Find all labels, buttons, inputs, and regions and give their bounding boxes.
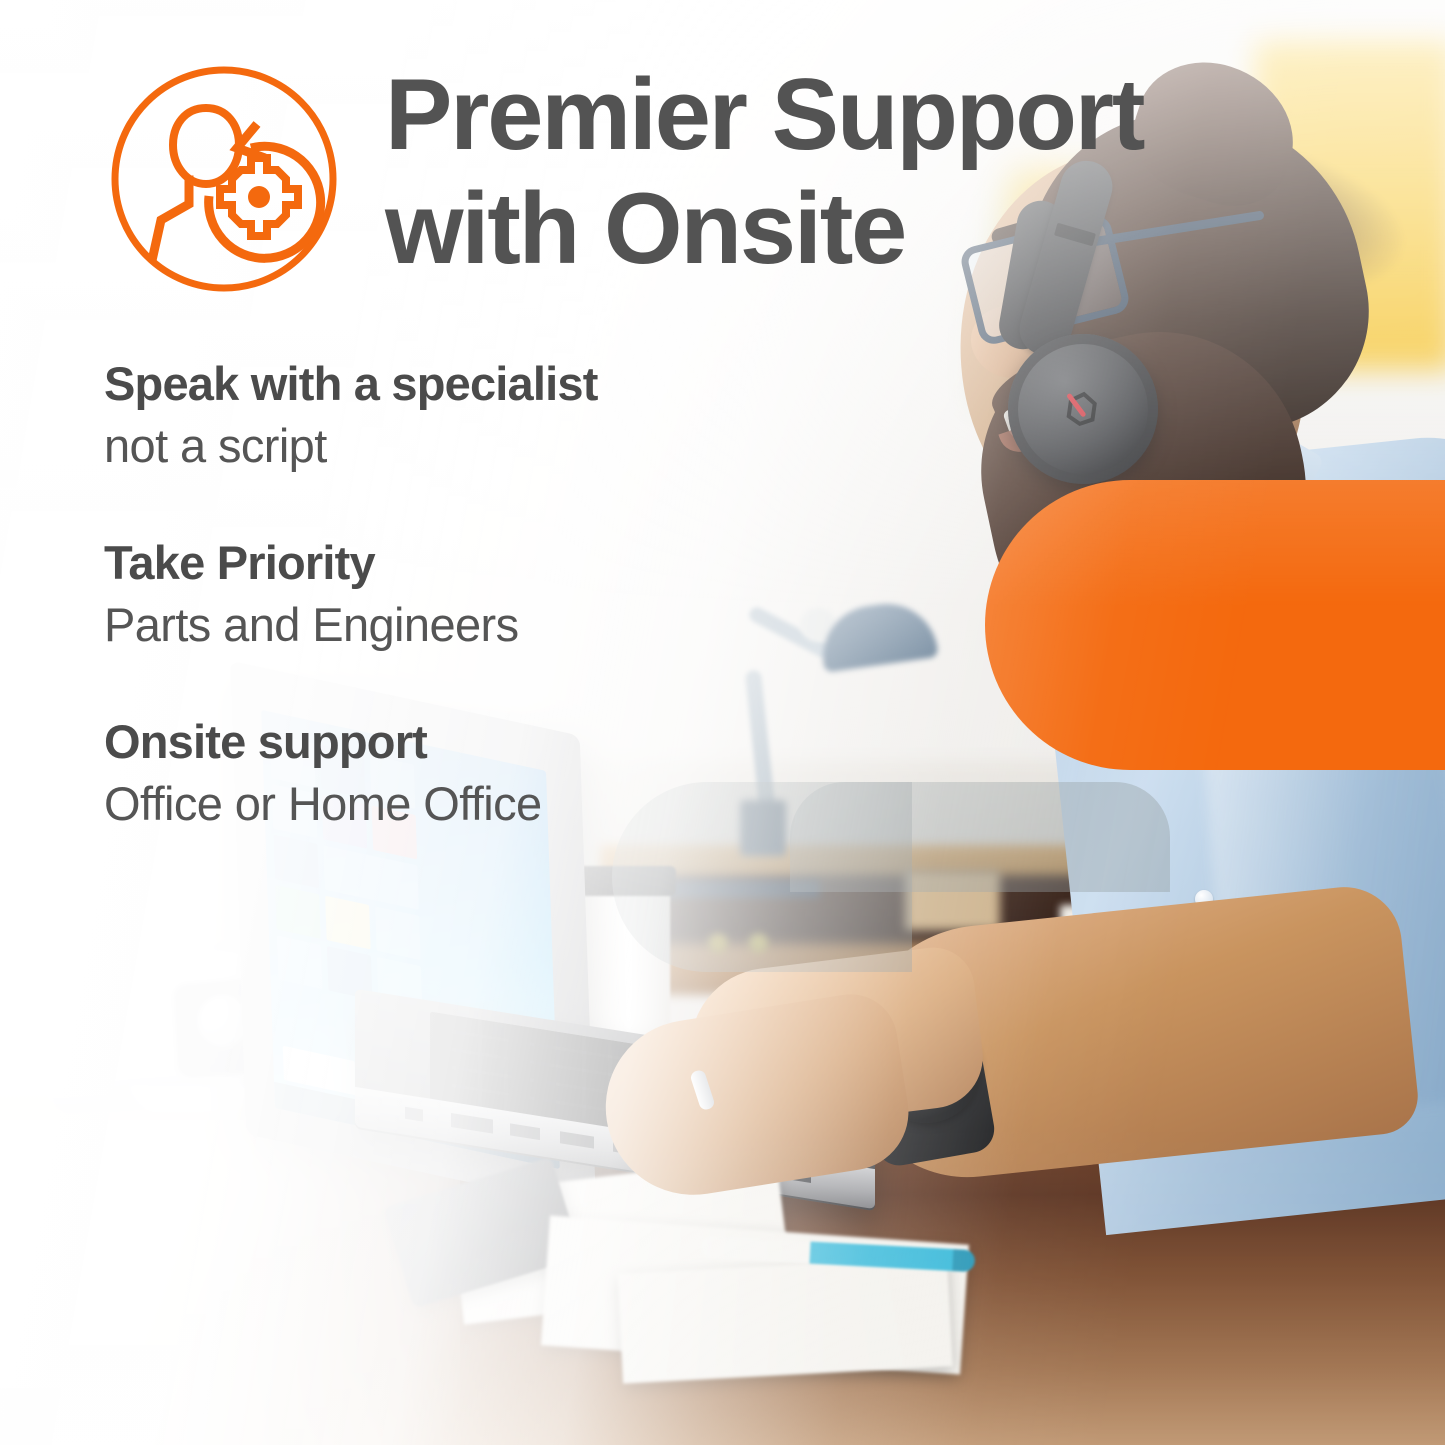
feature-subtext: Parts and Engineers (104, 596, 824, 653)
page-title: Premier Support with Onsite (385, 58, 1285, 286)
feature-headline: Onsite support (104, 716, 824, 769)
feature-headline: Speak with a specialist (104, 358, 824, 411)
title-line-2: with Onsite (385, 172, 1285, 286)
support-person-gear-refresh-icon (105, 60, 343, 298)
feature-subtext: not a script (104, 417, 824, 474)
feature-list: Speak with a specialist not a script Tak… (104, 358, 824, 895)
premier-support-poster: Premier Support with Onsite Speak with a… (0, 0, 1445, 1445)
title-line-1: Premier Support (385, 58, 1285, 172)
feature-subtext: Office or Home Office (104, 775, 824, 832)
feature-item-onsite: Onsite support Office or Home Office (104, 716, 824, 832)
feature-item-priority: Take Priority Parts and Engineers (104, 537, 824, 653)
poster-content: Premier Support with Onsite Speak with a… (0, 0, 1445, 1445)
feature-headline: Take Priority (104, 537, 824, 590)
feature-item-specialist: Speak with a specialist not a script (104, 358, 824, 474)
